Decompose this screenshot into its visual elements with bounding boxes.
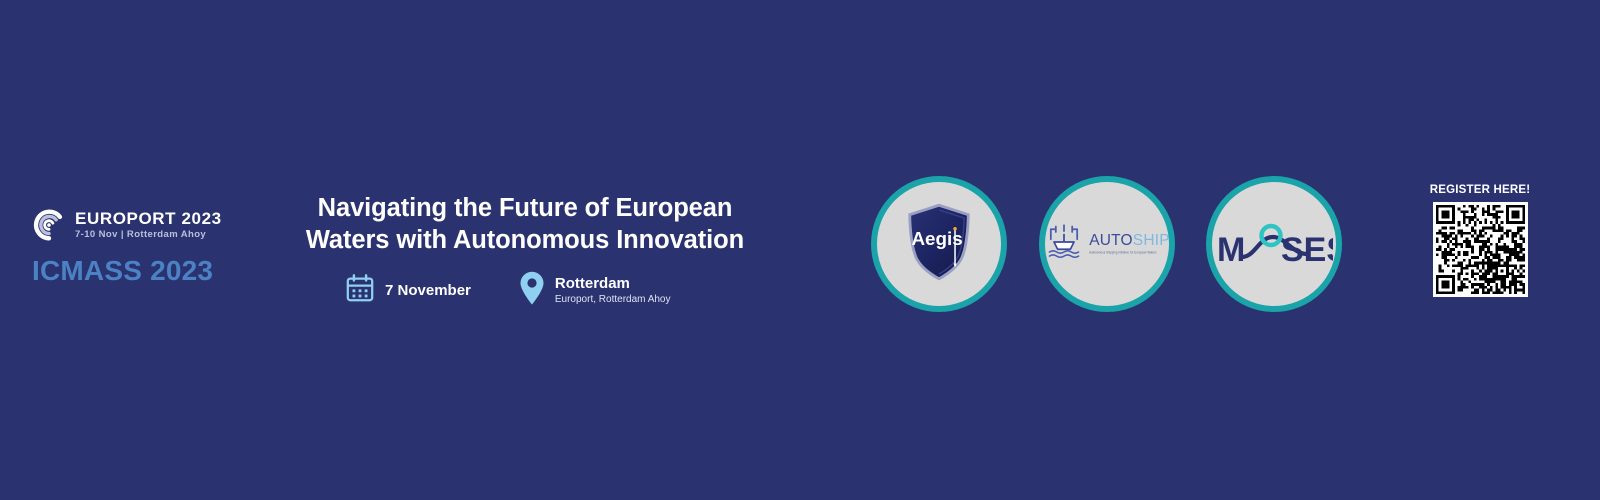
event-date-primary: 7 November bbox=[385, 282, 471, 299]
autoship-wordmark-stack: AUTOSHIP Autonomous Shipping Initiative … bbox=[1089, 233, 1170, 254]
autoship-wordmark-auto: AUTO bbox=[1089, 232, 1133, 249]
project-logo-aegis[interactable]: Aegis bbox=[871, 176, 1007, 312]
qr-code-canvas bbox=[1436, 205, 1525, 294]
europort-text-stack: EUROPORT 2023 7-10 Nov | Rotterdam Ahoy bbox=[75, 210, 222, 240]
headline-block: Navigating the Future of European Waters… bbox=[300, 192, 750, 310]
event-location: Rotterdam Europort, Rotterdam Ahoy bbox=[519, 271, 671, 310]
event-location-secondary: Europort, Rotterdam Ahoy bbox=[555, 294, 671, 306]
event-date-text: 7 November bbox=[385, 282, 471, 299]
europort-title: EUROPORT 2023 bbox=[75, 210, 222, 227]
event-meta-row: 7 November Rotterdam Europort, Rotterdam… bbox=[345, 271, 750, 310]
project-logo-autoship[interactable]: AUTOSHIP Autonomous Shipping Initiative … bbox=[1039, 176, 1175, 312]
page-title: Navigating the Future of European Waters… bbox=[300, 192, 750, 257]
moses-prefix-text: M bbox=[1217, 231, 1245, 268]
europort-subtitle: 7-10 Nov | Rotterdam Ahoy bbox=[75, 230, 222, 240]
headline-line-2: Waters with Autonomous Innovation bbox=[306, 226, 744, 254]
register-block[interactable]: REGISTER HERE! bbox=[1425, 184, 1535, 297]
autoship-lockup: AUTOSHIP Autonomous Shipping Initiative … bbox=[1044, 222, 1170, 267]
headline-line-1: Navigating the Future of European bbox=[318, 194, 733, 222]
map-pin-icon bbox=[519, 271, 545, 310]
autoship-wordmark: AUTOSHIP bbox=[1089, 233, 1170, 249]
europort-swirl-icon bbox=[30, 206, 68, 244]
event-date: 7 November bbox=[345, 273, 471, 308]
autoship-tagline: Autonomous Shipping Initiative for Europ… bbox=[1089, 252, 1156, 255]
shield-icon: Aegis bbox=[906, 203, 972, 286]
register-label: REGISTER HERE! bbox=[1425, 184, 1535, 196]
event-location-text: Rotterdam Europort, Rotterdam Ahoy bbox=[555, 275, 671, 306]
calendar-icon bbox=[345, 273, 375, 308]
event-title: ICMASS 2023 bbox=[32, 255, 290, 287]
brand-lockup: EUROPORT 2023 7-10 Nov | Rotterdam Ahoy … bbox=[30, 206, 290, 287]
autonomous-ship-icon bbox=[1044, 222, 1084, 267]
europort-logo: EUROPORT 2023 7-10 Nov | Rotterdam Ahoy bbox=[30, 206, 290, 244]
moses-suffix-text: SES bbox=[1281, 231, 1333, 268]
event-location-primary: Rotterdam bbox=[555, 275, 671, 292]
moses-lockup: M SES bbox=[1215, 220, 1333, 268]
autoship-wordmark-ship: SHIP bbox=[1133, 232, 1170, 249]
event-banner: EUROPORT 2023 7-10 Nov | Rotterdam Ahoy … bbox=[0, 0, 1600, 500]
project-logo-moses[interactable]: M SES bbox=[1206, 176, 1342, 312]
qr-code-icon[interactable] bbox=[1433, 202, 1528, 297]
